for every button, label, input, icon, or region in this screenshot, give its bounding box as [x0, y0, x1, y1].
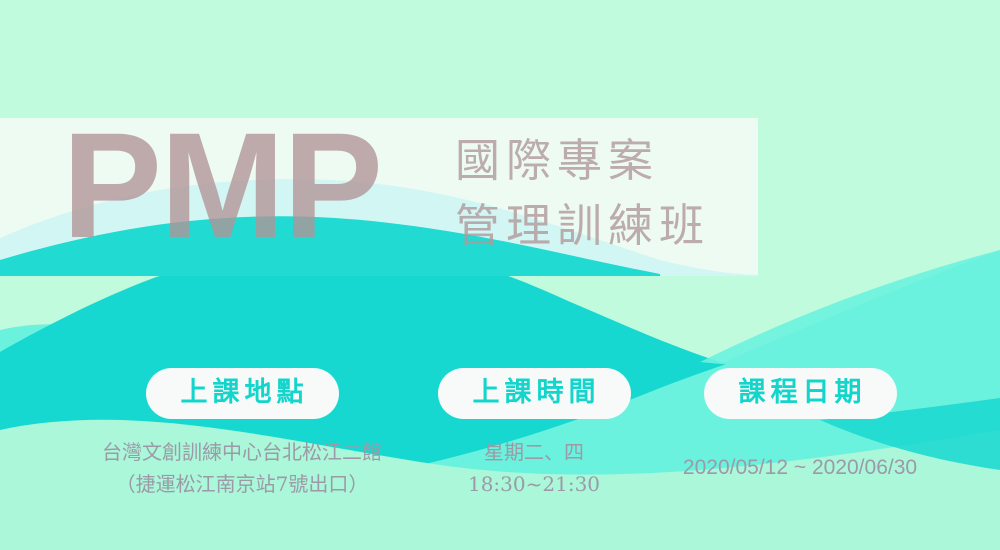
- pill-time-label: 上課時間: [438, 368, 631, 419]
- pill-date-label: 課程日期: [704, 368, 897, 419]
- location-line-2: （捷運松江南京站7號出口）: [42, 468, 442, 500]
- course-promo-banner: PMP 國際專案 管理訓練班 上課地點 台灣文創訓練中心台北松江二館 （捷運松江…: [0, 0, 1000, 550]
- time-line-1: 星期二、四: [404, 436, 664, 468]
- pill-location-label: 上課地點: [146, 368, 339, 419]
- acronym-pmp: PMP: [62, 110, 381, 260]
- course-title-line-1: 國際專案: [455, 128, 710, 193]
- location-line-1: 台灣文創訓練中心台北松江二館: [42, 436, 442, 468]
- course-title-chinese: 國際專案 管理訓練班: [455, 128, 710, 259]
- time-detail: 星期二、四 18:30~21:30: [404, 436, 664, 501]
- location-detail: 台灣文創訓練中心台北松江二館 （捷運松江南京站7號出口）: [42, 436, 442, 501]
- info-column-location: 上課地點 台灣文創訓練中心台北松江二館 （捷運松江南京站7號出口）: [42, 368, 442, 501]
- course-title-line-2: 管理訓練班: [455, 193, 710, 258]
- date-detail: 2020/05/12 ~ 2020/06/30: [640, 451, 960, 485]
- info-column-date: 課程日期 2020/05/12 ~ 2020/06/30: [640, 368, 960, 485]
- date-line-1: 2020/05/12 ~ 2020/06/30: [640, 451, 960, 485]
- info-column-time: 上課時間 星期二、四 18:30~21:30: [404, 368, 664, 501]
- headline-block: PMP 國際專案 管理訓練班: [0, 118, 758, 276]
- time-line-2: 18:30~21:30: [404, 468, 664, 500]
